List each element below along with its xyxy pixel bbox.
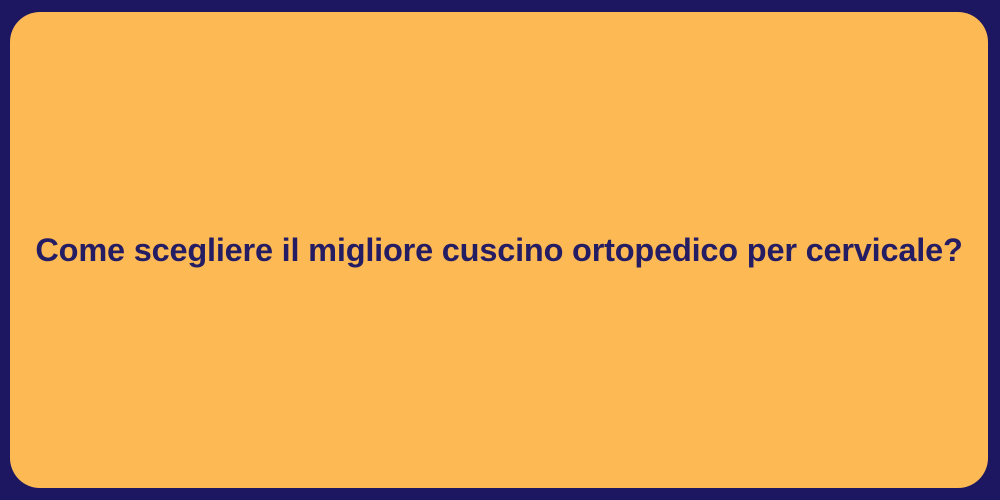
headline-card-panel: Come scegliere il migliore cuscino ortop… (10, 12, 988, 488)
headline-container: Come scegliere il migliore cuscino ortop… (10, 230, 988, 271)
headline-title: Come scegliere il migliore cuscino ortop… (35, 230, 962, 271)
banner-root: Come scegliere il migliore cuscino ortop… (0, 0, 1000, 500)
